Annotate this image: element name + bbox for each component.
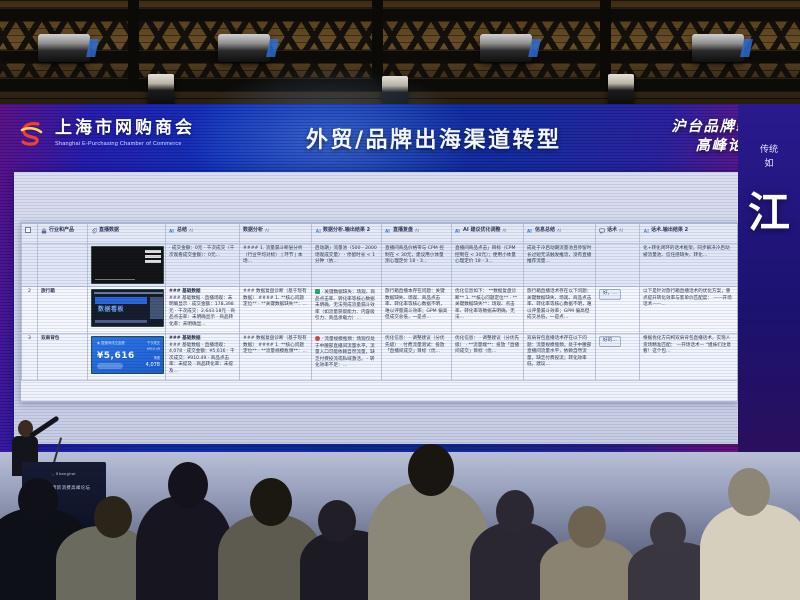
script-chip[interactable]: 好的… xyxy=(599,336,621,347)
ai-icon: AI xyxy=(169,228,175,234)
cell-script-out2[interactable]: 以下是针对旅行箱直播话术的优化方案，重点提升转化效率与客单价匹配度： ——开场话… xyxy=(640,287,738,334)
thumbnail-label: ◉ 直播间成交金额 xyxy=(97,341,125,346)
audience-head xyxy=(318,500,356,542)
cell-script[interactable] xyxy=(596,244,640,287)
column-header-label: 直播复盘 xyxy=(393,227,413,234)
cell-live-data[interactable] xyxy=(88,244,166,287)
column-header-tag: AI xyxy=(189,228,193,234)
cell-data-analysis[interactable]: ### 数据复盘诊断（基于现有数据） #### 1. **核心问题定位** · … xyxy=(240,287,312,334)
thumbnail-value: ¥5,616 xyxy=(97,350,135,363)
table-row[interactable]: · 成交金额：0元 · 千次成交（千次观看成交金额）：0元… #### 1. 流… xyxy=(22,244,738,287)
data-table[interactable]: 行业和产品 直播数据 A xyxy=(21,223,738,381)
ai-flow-icon xyxy=(643,228,649,234)
slide-title: 外贸/品牌出海渠道转型 xyxy=(306,122,562,154)
cell-ai-suggestion[interactable]: 优化信息： · 调整建议（分优先级） · **流量端**：投放「直播间成交」目标… xyxy=(452,334,524,381)
row-number: 2 xyxy=(22,287,38,334)
svg-text:AI: AI xyxy=(169,228,174,233)
column-header-info-summary[interactable]: AI 信息总结 AI xyxy=(524,224,596,244)
chamber-name-en: Shanghai E-Purchasing Chamber of Commerc… xyxy=(55,141,195,147)
cell-summary-heading: ### 基础数据 xyxy=(169,289,201,294)
cell-data-analysis[interactable]: #### 1. 流量漏斗断层分析（行业平均对标） | 环节 | 本场… xyxy=(240,244,312,287)
column-header-label: 信息总结 xyxy=(535,227,555,234)
column-header-live-data[interactable]: 直播数据 xyxy=(88,224,166,244)
cell-ai-suggestion[interactable]: 优化信息如下： **数据复盘诊断** 1. **核心问题定位** · **关键数… xyxy=(452,287,524,334)
cell-industry-product[interactable] xyxy=(38,244,88,287)
cell-data-analysis-out2[interactable]: 启动期」流量池（500 - 2000场观成交量） · 停留时长 < 1分钟（依… xyxy=(312,244,382,287)
cell-industry-product[interactable]: 旅行箱 xyxy=(38,287,88,334)
lock-icon xyxy=(41,228,47,234)
column-header-tag: AI xyxy=(619,228,623,234)
row-number xyxy=(22,244,38,287)
livestream-thumbnail[interactable]: 数据看板 xyxy=(91,289,164,327)
column-header-tag: AI xyxy=(415,228,419,234)
column-header-script-out2[interactable]: 话术.输出结果 2 xyxy=(640,224,738,244)
cell-data-analysis[interactable]: ### 数据复盘诊断（基于现有数据） #### 1. **核心问题定位** · … xyxy=(240,334,312,381)
cell-summary-body: ### 基础数据 · 直播场观：4,078 · 成交金额：¥5,616 · 千次… xyxy=(169,343,235,374)
column-header-label: 话术.输出结果 2 xyxy=(651,227,688,234)
column-header-data-analysis-out2[interactable]: 数据分析.输出结果 2 xyxy=(312,224,382,244)
ai-icon: AI xyxy=(385,228,391,234)
audience-head xyxy=(408,444,454,496)
column-header-label: 直播数据 xyxy=(99,227,119,234)
audience-head xyxy=(250,478,292,526)
conference-hall-photo: 上海市网购商会 Shanghai E-Purchasing Chamber of… xyxy=(0,0,800,600)
cell-summary-heading: ### 基础数据 xyxy=(169,336,201,341)
thumbnail-metric: ¥910.49 xyxy=(147,347,160,352)
ai-flow-icon xyxy=(315,228,321,234)
stage-light xyxy=(148,74,174,108)
truss-lattice xyxy=(0,20,800,52)
script-chip[interactable]: 好，… xyxy=(599,289,621,300)
audience-head xyxy=(728,468,770,516)
cell-summary[interactable]: · 成交金额：0元 · 千次成交（千次观看成交金额）：0元… xyxy=(166,244,240,287)
podium-logo: ◟ Shanghai xyxy=(22,471,106,476)
cell-live-data[interactable]: 数据看板 xyxy=(88,287,166,334)
cell-summary[interactable]: ### 基础数据 ### 基础数据 · 直播场观：4,078 · 成交金额：¥5… xyxy=(166,334,240,381)
row-number: 3 xyxy=(22,334,38,381)
cell-script[interactable]: 好，… xyxy=(596,287,640,334)
audience-head xyxy=(568,506,606,548)
cell-data-analysis-out2[interactable]: · 关键数据缺失：场观、商品点击率、转化率等核心数据未明确，无法完成流量漏斗效率… xyxy=(312,287,382,334)
alert-dot-icon xyxy=(315,336,320,341)
thumbnail-pill xyxy=(97,363,123,369)
ai-icon: AI xyxy=(527,228,533,234)
chamber-logo-icon xyxy=(16,118,46,148)
cell-live-data[interactable]: ◉ 直播间成交金额 ¥5,616 千次成交 ¥910.49 场观 4,078 xyxy=(88,334,166,381)
column-header-tag: AI xyxy=(265,228,269,234)
column-header-ai-suggestion[interactable]: AI AI 建议优化调整 AI xyxy=(452,224,524,244)
stage-light xyxy=(692,34,744,62)
column-header-label: 数据分析 xyxy=(243,227,263,234)
cell-live-review[interactable]: 旅行箱直播本存在问题：关键数据缺失、场观、商品点击率、转化率等核心数据不明，难以… xyxy=(382,287,452,334)
column-header-label: 数据分析.输出结果 2 xyxy=(323,227,370,234)
checkbox-icon[interactable] xyxy=(25,227,31,233)
column-header-data-analysis[interactable]: 数据分析 AI xyxy=(240,224,312,244)
cell-ai-suggestion[interactable]: 直播间商品点击」目标（CPM 控制在 < 30元）；便用小体量心理定价 18 -… xyxy=(452,244,524,287)
cell-text: · 关键数据缺失：场观、商品点击率、转化率等核心数据未明确，无法完成流量漏斗效率… xyxy=(315,290,375,321)
column-header-live-review[interactable]: AI 直播复盘 AI xyxy=(382,224,452,244)
cell-summary-body: ### 基础数据 · 直播场观：未明确显示 · 成交金额：178,398元 · … xyxy=(169,296,235,327)
cell-data-analysis-out2[interactable]: · 流量规模瓶颈：场观仅处于中腰部直播间流量水平，流量入口可能依赖自然流量，缺乏… xyxy=(312,334,382,381)
cell-live-review[interactable]: 优化信息： · 调整建议（分优先级） · 付费流量测试：投放「直播间成交」目标（… xyxy=(382,334,452,381)
audience-head xyxy=(18,478,58,522)
table-row[interactable]: 2 旅行箱 数据看板 ### 基础数据 ### 基础数据 · 直播 xyxy=(22,287,738,334)
column-header-label: 总结 xyxy=(177,227,187,234)
column-header-script[interactable]: 话术 AI xyxy=(596,224,640,244)
thumbnail-metric: 千次成交 xyxy=(147,341,160,346)
audience-head xyxy=(650,512,686,552)
attachment-icon xyxy=(91,228,97,234)
column-header-summary[interactable]: AI 总结 AI xyxy=(166,224,240,244)
stage-light xyxy=(38,34,90,62)
svg-text:AI: AI xyxy=(527,228,532,233)
side-panel-big-char: 江 xyxy=(738,179,800,240)
cell-script-out2[interactable]: 化+转化闭环的话术框架，同步解决冷启动被流量池、信任感缺失、转化… xyxy=(640,244,738,287)
side-panel-banner: 传统 如 江 xyxy=(738,104,800,456)
column-header-tag: AI xyxy=(557,228,561,234)
ai-icon: AI xyxy=(455,228,461,234)
side-panel-line2: 如 xyxy=(738,158,800,172)
column-header-label: 话术 xyxy=(607,227,617,234)
chamber-logo-block: 上海市网购商会 Shanghai E-Purchasing Chamber of… xyxy=(16,118,195,148)
table-header-row: 行业和产品 直播数据 A xyxy=(22,224,738,244)
cell-info-summary[interactable]: 双肩背包直播话术存在以下问题：流量规模瓶颈，处于中腰部直播间流量水平，依赖自然流… xyxy=(524,334,596,381)
column-header-select[interactable] xyxy=(22,224,38,244)
truss-post xyxy=(128,0,139,86)
column-header-industry-product[interactable]: 行业和产品 xyxy=(38,224,88,244)
check-icon xyxy=(315,289,320,294)
cell-industry-product[interactable]: 双肩背包 xyxy=(38,334,88,381)
table-row[interactable]: 3 双肩背包 ◉ 直播间成交金额 ¥5,616 千次成交 ¥910.49 场观 … xyxy=(22,334,738,381)
column-header-tag: AI xyxy=(502,228,506,234)
thumbnail-metric: 4,078 xyxy=(146,362,160,369)
svg-text:AI: AI xyxy=(455,228,460,233)
spreadsheet-table[interactable]: 行业和产品 直播数据 A xyxy=(20,222,738,402)
svg-text:AI: AI xyxy=(385,228,390,233)
cell-info-summary[interactable]: 成处于冷启动期流量池且停留时长过短无法触发推流，没有直播推荐流量… xyxy=(524,244,596,287)
chamber-name-cn: 上海市网购商会 xyxy=(55,118,195,138)
audience-head xyxy=(496,490,534,534)
audience-head xyxy=(94,496,132,538)
cell-script[interactable]: 好的… xyxy=(596,334,640,381)
side-panel-line1: 传统 xyxy=(738,144,800,158)
stage-light xyxy=(218,34,270,62)
livestream-thumbnail[interactable]: ◉ 直播间成交金额 ¥5,616 千次成交 ¥910.49 场观 4,078 xyxy=(91,336,164,374)
cell-live-review[interactable]: 直播间商品价格带与 CPM 控制在 < 30元，建议用小体量测心理定价 18 -… xyxy=(382,244,452,287)
stage-light xyxy=(608,74,634,108)
column-header-label: AI 建议优化调整 xyxy=(463,227,500,234)
audience-head xyxy=(168,462,208,508)
stage-light xyxy=(480,34,532,62)
cell-summary[interactable]: ### 基础数据 ### 基础数据 · 直播场观：未明确显示 · 成交金额：17… xyxy=(166,287,240,334)
cell-script-out2[interactable]: 根据优化方向构双肩背包直播话术，实现人货场精准匹配： —开场话术— “姐妹们注意… xyxy=(640,334,738,381)
slide-header-band: 上海市网购商会 Shanghai E-Purchasing Chamber of… xyxy=(0,104,800,172)
cell-text: · 流量规模瓶颈：场观仅处于中腰部直播间流量水平，流量入口可能依赖自然流量，缺乏… xyxy=(315,337,375,368)
presentation-slide: 行业和产品 直播数据 A xyxy=(14,172,768,444)
chamber-logo-text: 上海市网购商会 Shanghai E-Purchasing Chamber of… xyxy=(55,120,195,147)
chat-icon xyxy=(599,228,605,234)
thumbnail-metric: 场观 xyxy=(154,356,160,361)
column-header-label: 行业和产品 xyxy=(49,227,74,234)
livestream-thumbnail[interactable] xyxy=(91,246,164,284)
audience-member xyxy=(700,504,800,600)
cell-info-summary[interactable]: 旅行箱直播话术存在以下问题：关键数据缺失、场观、商品点击率、转化率等核心数据不明… xyxy=(524,287,596,334)
